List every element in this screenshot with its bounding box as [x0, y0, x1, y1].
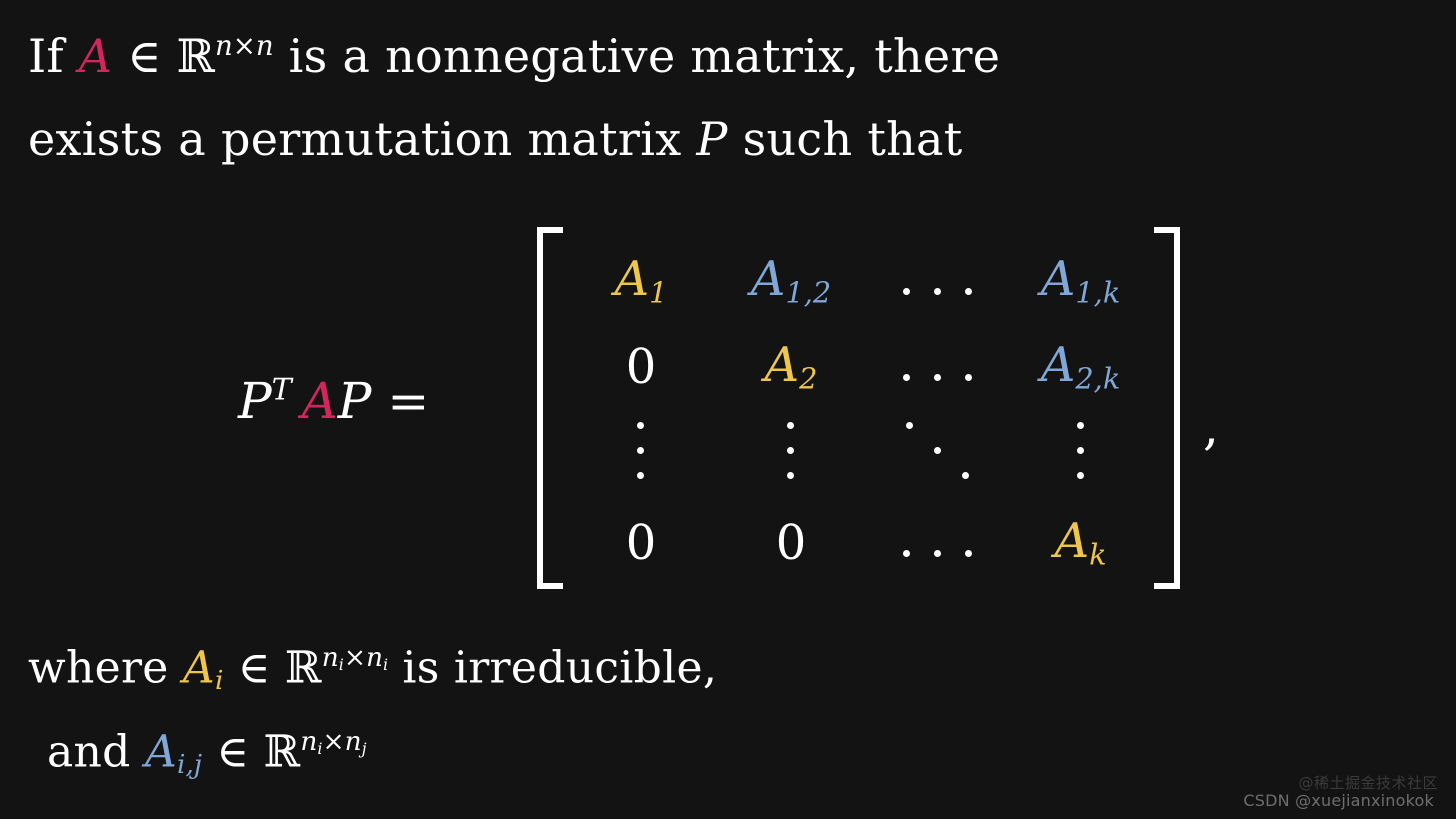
symbol-Ai-gold: A: [183, 642, 215, 693]
symbol-Aij-subscript: i,j: [177, 749, 202, 780]
block-A12: A: [751, 251, 786, 307]
condition-line-offdiagonal: and Ai,j ∈ ℝni×nj: [47, 729, 366, 779]
line4-suffix: is irreducible,: [388, 642, 717, 693]
line4-prefix: where: [28, 642, 183, 693]
cdots-icon: [901, 373, 977, 383]
matrix-cell-r1c4: A1,k: [1041, 255, 1121, 307]
line2-prefix: exists a permutation matrix: [28, 112, 696, 166]
transpose-superscript: T: [272, 372, 292, 407]
condition-line-irreducible: where Ai ∈ ℝni×ni is irreducible,: [28, 645, 717, 695]
membership-icon: [112, 29, 127, 83]
line2-suffix: such that: [728, 112, 963, 166]
equation-left-hand-side: PT AP =: [238, 372, 429, 430]
slide-canvas: If A ∈ ℝn×n is a nonnegative matrix, the…: [0, 0, 1456, 819]
matrix-cell-r1c1: A1: [615, 255, 668, 307]
matrix-cell-r3c3: [904, 420, 974, 490]
exp-n-left: n: [300, 726, 317, 757]
matrix-cell-r1c3: [901, 257, 977, 305]
block-A2: A: [765, 337, 800, 393]
symbol-P: P: [696, 112, 727, 166]
matrix-cell-r2c4: A2,k: [1041, 341, 1121, 393]
element-of-icon: ∈: [238, 642, 271, 693]
reals-symbol: ℝ: [264, 726, 301, 777]
exponent-n-by-n: n×n: [215, 29, 274, 62]
matrix-cell-r1c2: A1,2: [751, 255, 831, 307]
matrix-cell-r4c3: [901, 519, 977, 567]
zero-entry: 0: [626, 339, 657, 395]
symbol-A-crimson: A: [79, 29, 113, 83]
vdots-icon: [1076, 420, 1086, 482]
matrix-cell-r2c3: [901, 343, 977, 391]
matrix-cell-r3c1: [636, 420, 646, 490]
exp-n-right: n: [366, 642, 383, 673]
block-A1-subscript: 1: [649, 275, 667, 309]
exp-n-right: n: [345, 726, 362, 757]
block-A1: A: [615, 251, 650, 307]
reals-symbol: ℝ: [176, 29, 215, 83]
element-of-icon: ∈: [216, 726, 249, 777]
matrix-cell-r4c2: 0: [776, 519, 807, 567]
exp-n-right-sub: j: [362, 739, 367, 758]
watermark-juejin: @稀土掘金技术社区: [1298, 772, 1438, 793]
equals-sign: =: [387, 372, 429, 430]
matrix-left-bracket: [537, 227, 563, 589]
line1-suffix: is a nonnegative matrix, there: [274, 29, 1001, 83]
space-l5-2: [249, 726, 263, 777]
times-icon: ×: [322, 726, 344, 757]
space-l5-1: [202, 726, 216, 777]
space-1: [162, 29, 177, 83]
matrix-cell-r3c2: [786, 420, 796, 490]
line1-prefix: If: [28, 29, 79, 83]
exponent-group: ni×nj: [300, 726, 366, 757]
vdots-icon: [786, 420, 796, 482]
space-lhs-1: [292, 372, 302, 430]
element-of-icon: ∈: [127, 29, 161, 83]
line5-prefix: and: [47, 726, 145, 777]
symbol-P-right: P: [338, 372, 372, 430]
matrix-cell-r2c1: 0: [626, 343, 657, 391]
symbol-P-transpose-base: P: [238, 372, 272, 430]
matrix-cell-r4c1: 0: [626, 519, 657, 567]
times-icon: ×: [344, 642, 366, 673]
statement-line-1: If A ∈ ℝn×n is a nonnegative matrix, the…: [28, 32, 1000, 79]
block-A2k: A: [1041, 337, 1076, 393]
block-A2k-subscript: 2,k: [1075, 361, 1120, 395]
zero-entry: 0: [626, 515, 657, 571]
block-A1k-subscript: 1,k: [1075, 275, 1120, 309]
reals-symbol: ℝ: [285, 642, 322, 693]
matrix-cell-r4c4: Ak: [1054, 517, 1106, 569]
space-l4-2: [271, 642, 285, 693]
ddots-icon: [904, 420, 974, 482]
block-A2-subscript: 2: [799, 361, 817, 395]
block-A12-subscript: 1,2: [785, 275, 831, 309]
vdots-icon: [636, 420, 646, 482]
matrix-right-bracket: [1154, 227, 1180, 589]
block-matrix: A1 A1,2 A1,k 0 A2 A2,k: [566, 235, 1150, 583]
cdots-icon: [901, 549, 977, 559]
exp-n-left: n: [322, 642, 339, 673]
space-l4-1: [223, 642, 237, 693]
block-A1k: A: [1041, 251, 1076, 307]
cdots-icon: [901, 287, 977, 297]
watermark-csdn: CSDN @xuejianxinokok: [1243, 791, 1434, 810]
exponent-group: ni×ni: [322, 642, 388, 673]
matrix-cell-r3c4: [1076, 420, 1086, 490]
symbol-Aij-blue: A: [145, 726, 177, 777]
symbol-A-crimson-equation: A: [302, 372, 338, 430]
equation-trailing-comma: ,: [1203, 398, 1219, 456]
zero-entry: 0: [776, 515, 807, 571]
block-Ak: A: [1054, 513, 1089, 569]
matrix-cell-r2c2: A2: [765, 341, 818, 393]
block-Ak-subscript: k: [1089, 537, 1106, 571]
space-lhs-2: [371, 372, 387, 430]
statement-line-2: exists a permutation matrix P such that: [28, 116, 963, 162]
